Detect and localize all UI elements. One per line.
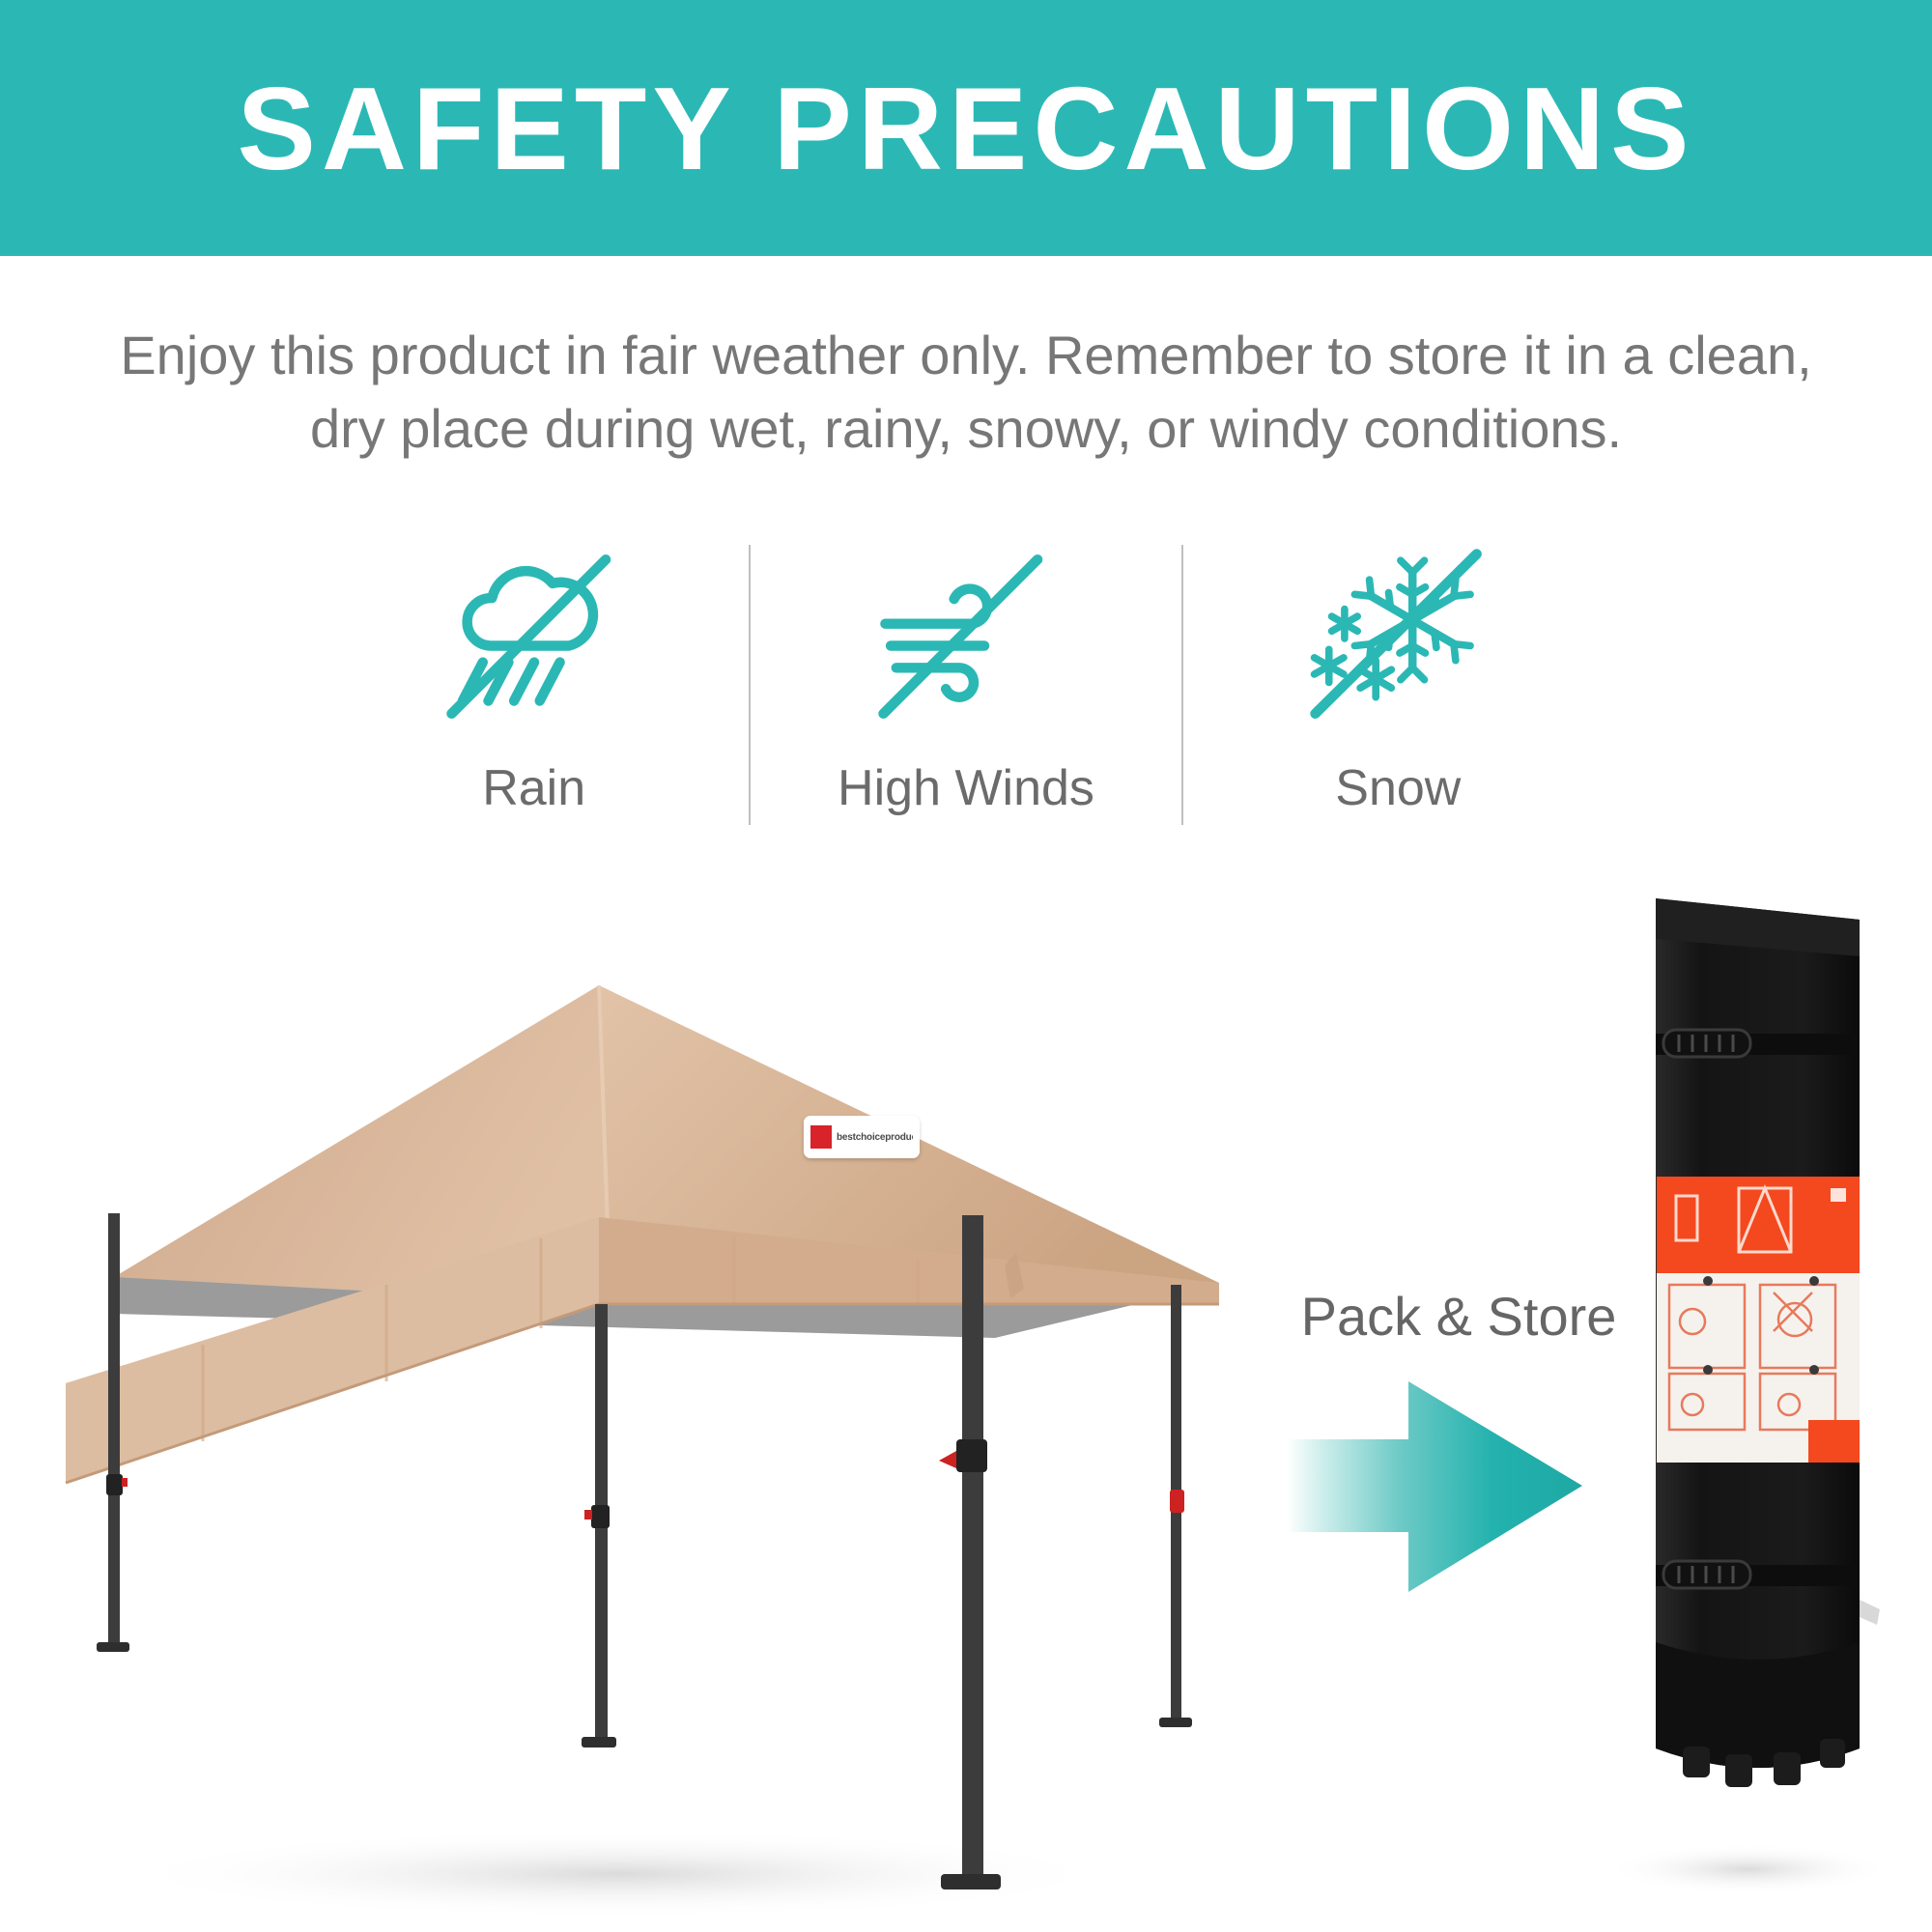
page-title: SAFETY PRECAUTIONS xyxy=(238,70,1695,187)
intro-paragraph: Enjoy this product in fair weather only.… xyxy=(97,319,1835,465)
pop-up-canopy xyxy=(66,985,1219,1889)
pack-store-arrow-wrap xyxy=(1285,1372,1584,1604)
product-illustration-stage xyxy=(0,898,1932,1932)
canopy-leg-mid-left xyxy=(582,1304,616,1747)
no-wind-icon xyxy=(874,545,1058,728)
weather-label-rain: Rain xyxy=(482,763,585,813)
no-rain-icon xyxy=(442,545,626,728)
header-banner: SAFETY PRECAUTIONS xyxy=(0,0,1932,256)
canopy-leg-back-right xyxy=(1159,1285,1192,1727)
carry-bag-pull-tab xyxy=(1860,1600,1880,1625)
wheeled-carry-bag xyxy=(1656,898,1880,1787)
canopy-brand-label: bestchoiceproducts xyxy=(804,1116,920,1158)
weather-item-snow: Snow xyxy=(1183,541,1613,840)
weather-item-rain: Rain xyxy=(319,541,749,840)
weather-item-high-winds: High Winds xyxy=(751,541,1180,840)
weather-label-high-winds: High Winds xyxy=(838,763,1094,813)
bag-ground-shadow xyxy=(1604,1844,1893,1894)
weather-warnings-row: Rain High Winds xyxy=(319,541,1613,840)
carry-bag-top-handle xyxy=(1656,1030,1860,1057)
pack-store-label: Pack & Store xyxy=(1275,1290,1642,1344)
brand-label-text: bestchoiceproducts xyxy=(837,1132,913,1143)
weather-label-snow: Snow xyxy=(1335,763,1461,813)
pack-store-arrow xyxy=(1285,1372,1584,1604)
carry-bag-instruction-label xyxy=(1657,1177,1860,1463)
brand-logo-icon xyxy=(810,1125,832,1149)
carry-bag-bottom-handle xyxy=(1656,1561,1860,1588)
no-snow-icon xyxy=(1306,545,1490,728)
